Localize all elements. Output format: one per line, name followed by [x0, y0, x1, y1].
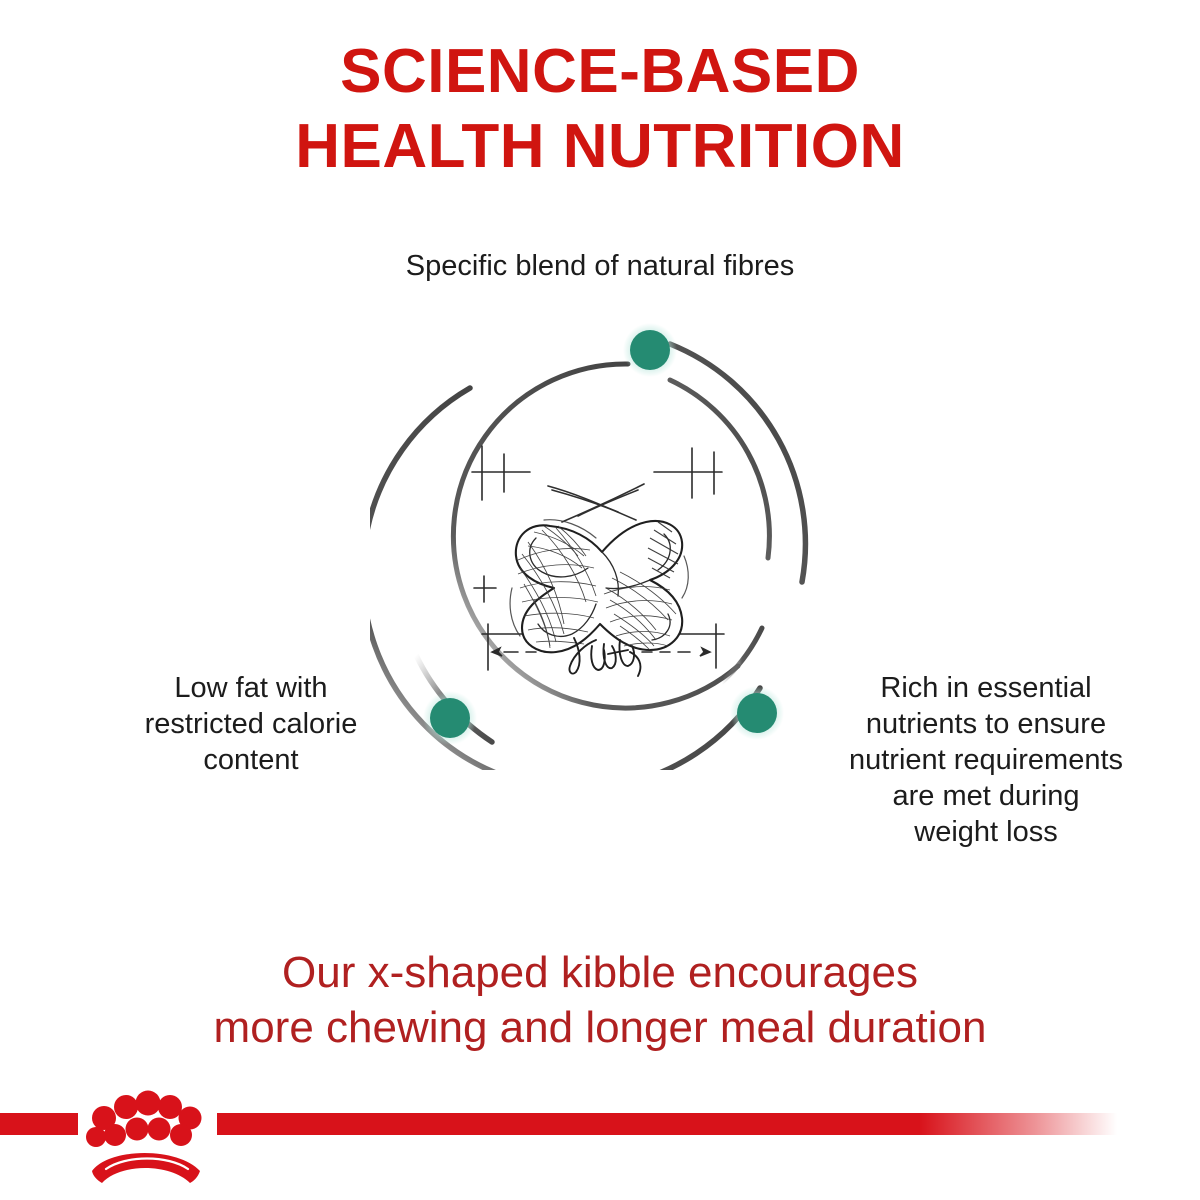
caption-natural-fibres: Specific blend of natural fibres: [0, 248, 1200, 284]
kibble-statement-line-2: more chewing and longer meal duration: [0, 1000, 1200, 1055]
caption-essential-nutrients-line-1: Rich in essential: [806, 670, 1166, 706]
dot-right: [737, 693, 777, 733]
caption-low-fat-line-2: restricted calorie: [96, 706, 406, 742]
construction-lines: [548, 484, 644, 522]
crown-icon: [86, 1091, 202, 1184]
footer-bar-left: [0, 1113, 78, 1135]
dimension-line: [492, 648, 710, 656]
caption-low-fat-line-1: Low fat with: [96, 670, 406, 706]
kibble-statement-line-1: Our x-shaped kibble encourages: [0, 945, 1200, 1000]
caption-low-fat: Low fat with restricted calorie content: [96, 670, 406, 778]
footer: [0, 1085, 1200, 1200]
caption-essential-nutrients: Rich in essential nutrients to ensure nu…: [806, 670, 1166, 850]
page-title: SCIENCE-BASED HEALTH NUTRITION: [0, 34, 1200, 184]
kibble-sketch: [472, 446, 724, 676]
page-title-line-2: HEALTH NUTRITION: [0, 109, 1200, 184]
footer-bar-right: [217, 1113, 1117, 1135]
caption-essential-nutrients-line-3: nutrient requirements: [806, 742, 1166, 778]
accent-dots: [423, 323, 784, 745]
dot-bottom-left: [430, 698, 470, 738]
caption-essential-nutrients-line-4: are met during: [806, 778, 1166, 814]
caption-essential-nutrients-line-5: weight loss: [806, 814, 1166, 850]
caption-essential-nutrients-line-2: nutrients to ensure: [806, 706, 1166, 742]
kibble-body: [510, 520, 688, 653]
kibble-statement: Our x-shaped kibble encourages more chew…: [0, 945, 1200, 1055]
page-title-line-1: SCIENCE-BASED: [0, 34, 1200, 109]
royal-canin-crown-logo: [82, 1085, 210, 1185]
dot-top: [630, 330, 670, 370]
caption-low-fat-line-3: content: [96, 742, 406, 778]
kibble-diagram: [370, 310, 830, 770]
inner-ring: [453, 364, 769, 708]
